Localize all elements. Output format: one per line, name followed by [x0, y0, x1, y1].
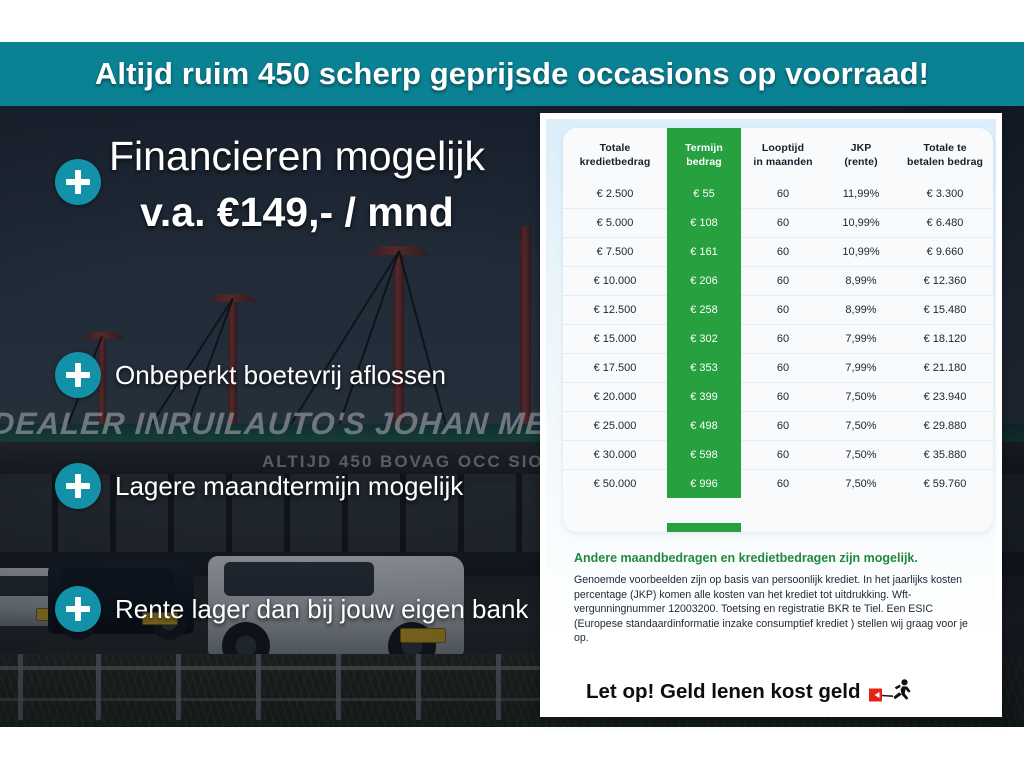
highlight-column-footer — [667, 523, 741, 532]
cell-kredietbedrag: € 25.000 — [563, 412, 667, 441]
plus-icon — [55, 159, 101, 205]
cell-jkp: 7,50% — [825, 412, 897, 441]
header-line2: kredietbedrag — [580, 156, 651, 168]
header-line1: Totale te — [923, 142, 966, 154]
cell-jkp: 7,50% — [825, 383, 897, 412]
cell-jkp: 8,99% — [825, 296, 897, 325]
bullet-label-3: Rente lager dan bij jouw eigen bank — [115, 594, 528, 624]
cell-totale-te-betalen: € 9.660 — [897, 238, 993, 267]
bullet-label-2: Lagere maandtermijn mogelijk — [115, 471, 463, 501]
header-line2: (rente) — [844, 156, 877, 168]
cell-looptijd: 60 — [741, 383, 825, 412]
cell-termijnbedrag: € 996 — [667, 470, 741, 499]
cell-jkp: 10,99% — [825, 209, 897, 238]
cell-jkp: 7,50% — [825, 470, 897, 499]
cell-looptijd: 60 — [741, 238, 825, 267]
cell-jkp: 10,99% — [825, 238, 897, 267]
cell-kredietbedrag: € 17.500 — [563, 354, 667, 383]
cell-totale-te-betalen: € 21.180 — [897, 354, 993, 383]
cell-jkp: 8,99% — [825, 267, 897, 296]
headline-band: Altijd ruim 450 scherp geprijsde occasio… — [0, 42, 1024, 106]
disclaimer-block: Andere maandbedragen en kredietbedragen … — [574, 551, 974, 646]
cell-kredietbedrag: € 30.000 — [563, 441, 667, 470]
table-row: € 5.000€ 1086010,99%€ 6.480 — [563, 209, 993, 238]
advertisement-banner: DEALER INRUILAUTO'S JOHAN MEURE ALTIJD 4… — [0, 0, 1024, 768]
cell-totale-te-betalen: € 59.760 — [897, 470, 993, 499]
rates-table-container: Totale kredietbedrag Termijn bedrag Loop… — [563, 128, 993, 532]
plus-icon — [55, 586, 101, 632]
finance-info-card: Totale kredietbedrag Termijn bedrag Loop… — [540, 113, 1002, 717]
cell-looptijd: 60 — [741, 296, 825, 325]
col-header-jkp: JKP (rente) — [825, 128, 897, 180]
cell-termijnbedrag: € 108 — [667, 209, 741, 238]
afm-logo-svg — [869, 679, 915, 705]
header-line1: JKP — [851, 142, 872, 154]
table-row: € 15.000€ 302607,99%€ 18.120 — [563, 325, 993, 354]
header-line1: Totale — [600, 142, 631, 154]
cell-termijnbedrag: € 353 — [667, 354, 741, 383]
cell-kredietbedrag: € 12.500 — [563, 296, 667, 325]
cell-totale-te-betalen: € 23.940 — [897, 383, 993, 412]
table-row: € 2.500€ 556011,99%€ 3.300 — [563, 180, 993, 209]
table-row: € 50.000€ 996607,50%€ 59.760 — [563, 470, 993, 499]
header-line2: bedrag — [686, 156, 722, 168]
cell-looptijd: 60 — [741, 412, 825, 441]
cell-looptijd: 60 — [741, 354, 825, 383]
cell-kredietbedrag: € 20.000 — [563, 383, 667, 412]
cell-totale-te-betalen: € 18.120 — [897, 325, 993, 354]
header-line1: Looptijd — [762, 142, 804, 154]
table-row: € 17.500€ 353607,99%€ 21.180 — [563, 354, 993, 383]
cell-totale-te-betalen: € 35.880 — [897, 441, 993, 470]
cell-totale-te-betalen: € 6.480 — [897, 209, 993, 238]
cell-jkp: 7,99% — [825, 354, 897, 383]
cell-termijnbedrag: € 161 — [667, 238, 741, 267]
header-line1: Termijn — [685, 142, 723, 154]
promo-title-line1: Financieren mogelijk — [52, 128, 542, 184]
cell-jkp: 7,99% — [825, 325, 897, 354]
table-row: € 20.000€ 399607,50%€ 23.940 — [563, 383, 993, 412]
cell-kredietbedrag: € 10.000 — [563, 267, 667, 296]
promo-title-line2: v.a. €149,- / mnd — [52, 184, 542, 240]
table-row: € 10.000€ 206608,99%€ 12.360 — [563, 267, 993, 296]
cell-totale-te-betalen: € 15.480 — [897, 296, 993, 325]
cell-looptijd: 60 — [741, 180, 825, 209]
table-row: € 12.500€ 258608,99%€ 15.480 — [563, 296, 993, 325]
col-header-looptijd: Looptijd in maanden — [741, 128, 825, 180]
cell-kredietbedrag: € 5.000 — [563, 209, 667, 238]
cell-jkp: 7,50% — [825, 441, 897, 470]
cell-termijnbedrag: € 206 — [667, 267, 741, 296]
disclaimer-body: Genoemde voorbeelden zijn op basis van p… — [574, 573, 974, 646]
col-header-totale-te-betalen: Totale te betalen bedrag — [897, 128, 993, 180]
table-row: € 7.500€ 1616010,99%€ 9.660 — [563, 238, 993, 267]
cell-kredietbedrag: € 7.500 — [563, 238, 667, 267]
plus-icon — [55, 463, 101, 509]
promo-bullets-column: Financieren mogelijk v.a. €149,- / mnd O… — [0, 106, 545, 727]
credit-warning-text: Let op! Geld lenen kost geld — [586, 680, 861, 704]
cell-termijnbedrag: € 55 — [667, 180, 741, 209]
cell-kredietbedrag: € 2.500 — [563, 180, 667, 209]
disclaimer-title: Andere maandbedragen en kredietbedragen … — [574, 551, 974, 565]
header-line2: in maanden — [753, 156, 812, 168]
table-row: € 25.000€ 498607,50%€ 29.880 — [563, 412, 993, 441]
cell-looptijd: 60 — [741, 209, 825, 238]
bullet-label-1: Onbeperkt boetevrij aflossen — [115, 360, 446, 390]
rates-table-body: € 2.500€ 556011,99%€ 3.300€ 5.000€ 10860… — [563, 180, 993, 498]
cell-kredietbedrag: € 50.000 — [563, 470, 667, 499]
card-inner: Totale kredietbedrag Termijn bedrag Loop… — [546, 119, 996, 711]
cell-termijnbedrag: € 598 — [667, 441, 741, 470]
col-header-termijn-bedrag: Termijn bedrag — [667, 128, 741, 180]
cell-termijnbedrag: € 258 — [667, 296, 741, 325]
cell-totale-te-betalen: € 29.880 — [897, 412, 993, 441]
banner-headline: Altijd ruim 450 scherp geprijsde occasio… — [0, 42, 1024, 106]
rates-table-head: Totale kredietbedrag Termijn bedrag Loop… — [563, 128, 993, 180]
credit-warning: Let op! Geld lenen kost geld — [586, 679, 986, 705]
cell-looptijd: 60 — [741, 325, 825, 354]
cell-looptijd: 60 — [741, 470, 825, 499]
cell-totale-te-betalen: € 12.360 — [897, 267, 993, 296]
plus-icon — [55, 352, 101, 398]
col-header-totale-kredietbedrag: Totale kredietbedrag — [563, 128, 667, 180]
cell-kredietbedrag: € 15.000 — [563, 325, 667, 354]
cell-termijnbedrag: € 399 — [667, 383, 741, 412]
cell-totale-te-betalen: € 3.300 — [897, 180, 993, 209]
cell-looptijd: 60 — [741, 441, 825, 470]
cell-termijnbedrag: € 498 — [667, 412, 741, 441]
promo-title: Financieren mogelijk v.a. €149,- / mnd — [52, 128, 542, 240]
cell-looptijd: 60 — [741, 267, 825, 296]
afm-walking-man-icon — [869, 679, 915, 705]
cell-termijnbedrag: € 302 — [667, 325, 741, 354]
table-header-row: Totale kredietbedrag Termijn bedrag Loop… — [563, 128, 993, 180]
rates-table: Totale kredietbedrag Termijn bedrag Loop… — [563, 128, 993, 498]
table-row: € 30.000€ 598607,50%€ 35.880 — [563, 441, 993, 470]
cell-jkp: 11,99% — [825, 180, 897, 209]
header-line2: betalen bedrag — [907, 156, 983, 168]
